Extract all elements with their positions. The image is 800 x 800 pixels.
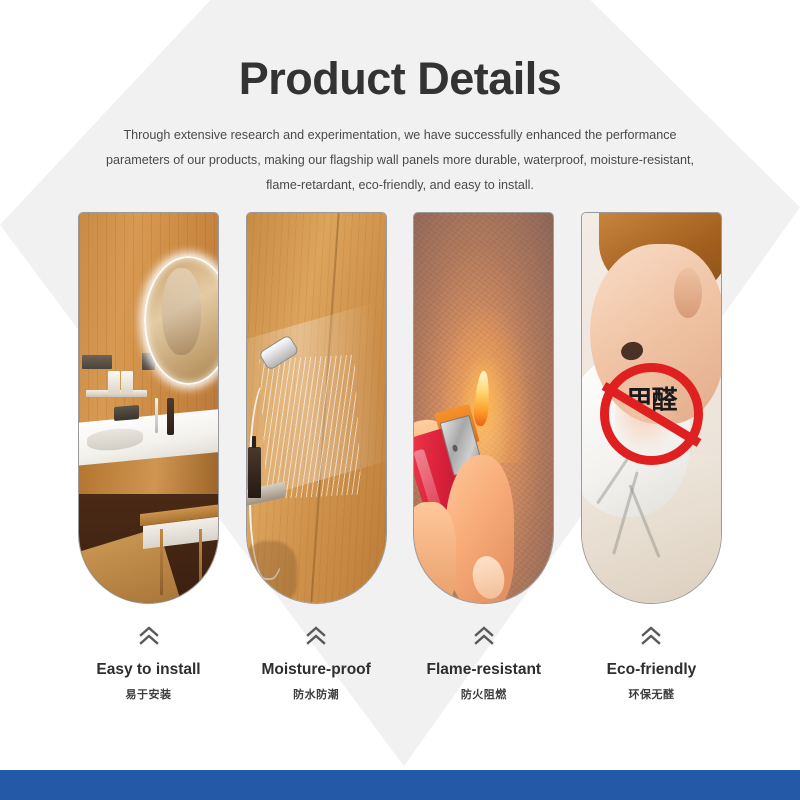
double-chevron-up-icon xyxy=(138,626,160,646)
footer-accent-bar xyxy=(0,770,800,800)
soap-bottle xyxy=(167,398,174,435)
feature-label-en: Moisture-proof xyxy=(246,660,387,679)
wet-panel-patch xyxy=(246,541,297,603)
product-details-page: Product Details Through extensive resear… xyxy=(0,0,800,800)
feature-card-list: Easy to install 易于安装 xyxy=(78,212,722,702)
feature-card-moisture-proof[interactable]: Moisture-proof 防水防潮 xyxy=(246,212,387,702)
feature-label-en: Easy to install xyxy=(78,660,219,679)
round-led-mirror xyxy=(144,256,219,385)
shelf-jar xyxy=(121,371,133,393)
shelf-jar xyxy=(108,371,120,393)
double-chevron-up-icon xyxy=(305,626,327,646)
wall-switch-panel xyxy=(82,355,113,369)
feature-image-easy-to-install xyxy=(78,212,219,604)
feature-caption: Flame-resistant 防火阻燃 xyxy=(413,626,554,702)
feature-image-eco-friendly: 甲醛 xyxy=(581,212,722,604)
feature-image-flame-resistant xyxy=(413,212,554,604)
feature-card-easy-to-install[interactable]: Easy to install 易于安装 xyxy=(78,212,219,702)
counter-tray xyxy=(114,405,139,421)
feature-card-flame-resistant[interactable]: Flame-resistant 防火阻燃 xyxy=(413,212,554,702)
feature-label-cn: 环保无醛 xyxy=(581,686,722,702)
feature-caption: Eco-friendly 环保无醛 xyxy=(581,626,722,702)
finger xyxy=(413,502,456,604)
feature-label-en: Eco-friendly xyxy=(581,660,722,679)
feature-card-eco-friendly[interactable]: 甲醛 Eco-friendly 环保无醛 xyxy=(581,212,722,702)
feature-image-moisture-proof xyxy=(246,212,387,604)
feature-caption: Easy to install 易于安装 xyxy=(78,626,219,702)
bench-leg xyxy=(160,529,163,595)
bench-leg xyxy=(199,529,202,595)
feature-label-en: Flame-resistant xyxy=(413,660,554,679)
page-header: Product Details Through extensive resear… xyxy=(0,52,800,199)
feature-caption: Moisture-proof 防水防潮 xyxy=(246,626,387,702)
feature-label-cn: 防火阻燃 xyxy=(413,686,554,702)
double-chevron-up-icon xyxy=(473,626,495,646)
feature-label-cn: 防水防潮 xyxy=(246,686,387,702)
feature-label-cn: 易于安装 xyxy=(78,686,219,702)
baby-ear xyxy=(674,268,702,319)
page-title: Product Details xyxy=(0,52,800,105)
shampoo-bottle xyxy=(248,447,261,498)
page-description: Through extensive research and experimen… xyxy=(92,123,708,199)
double-chevron-up-icon xyxy=(640,626,662,646)
